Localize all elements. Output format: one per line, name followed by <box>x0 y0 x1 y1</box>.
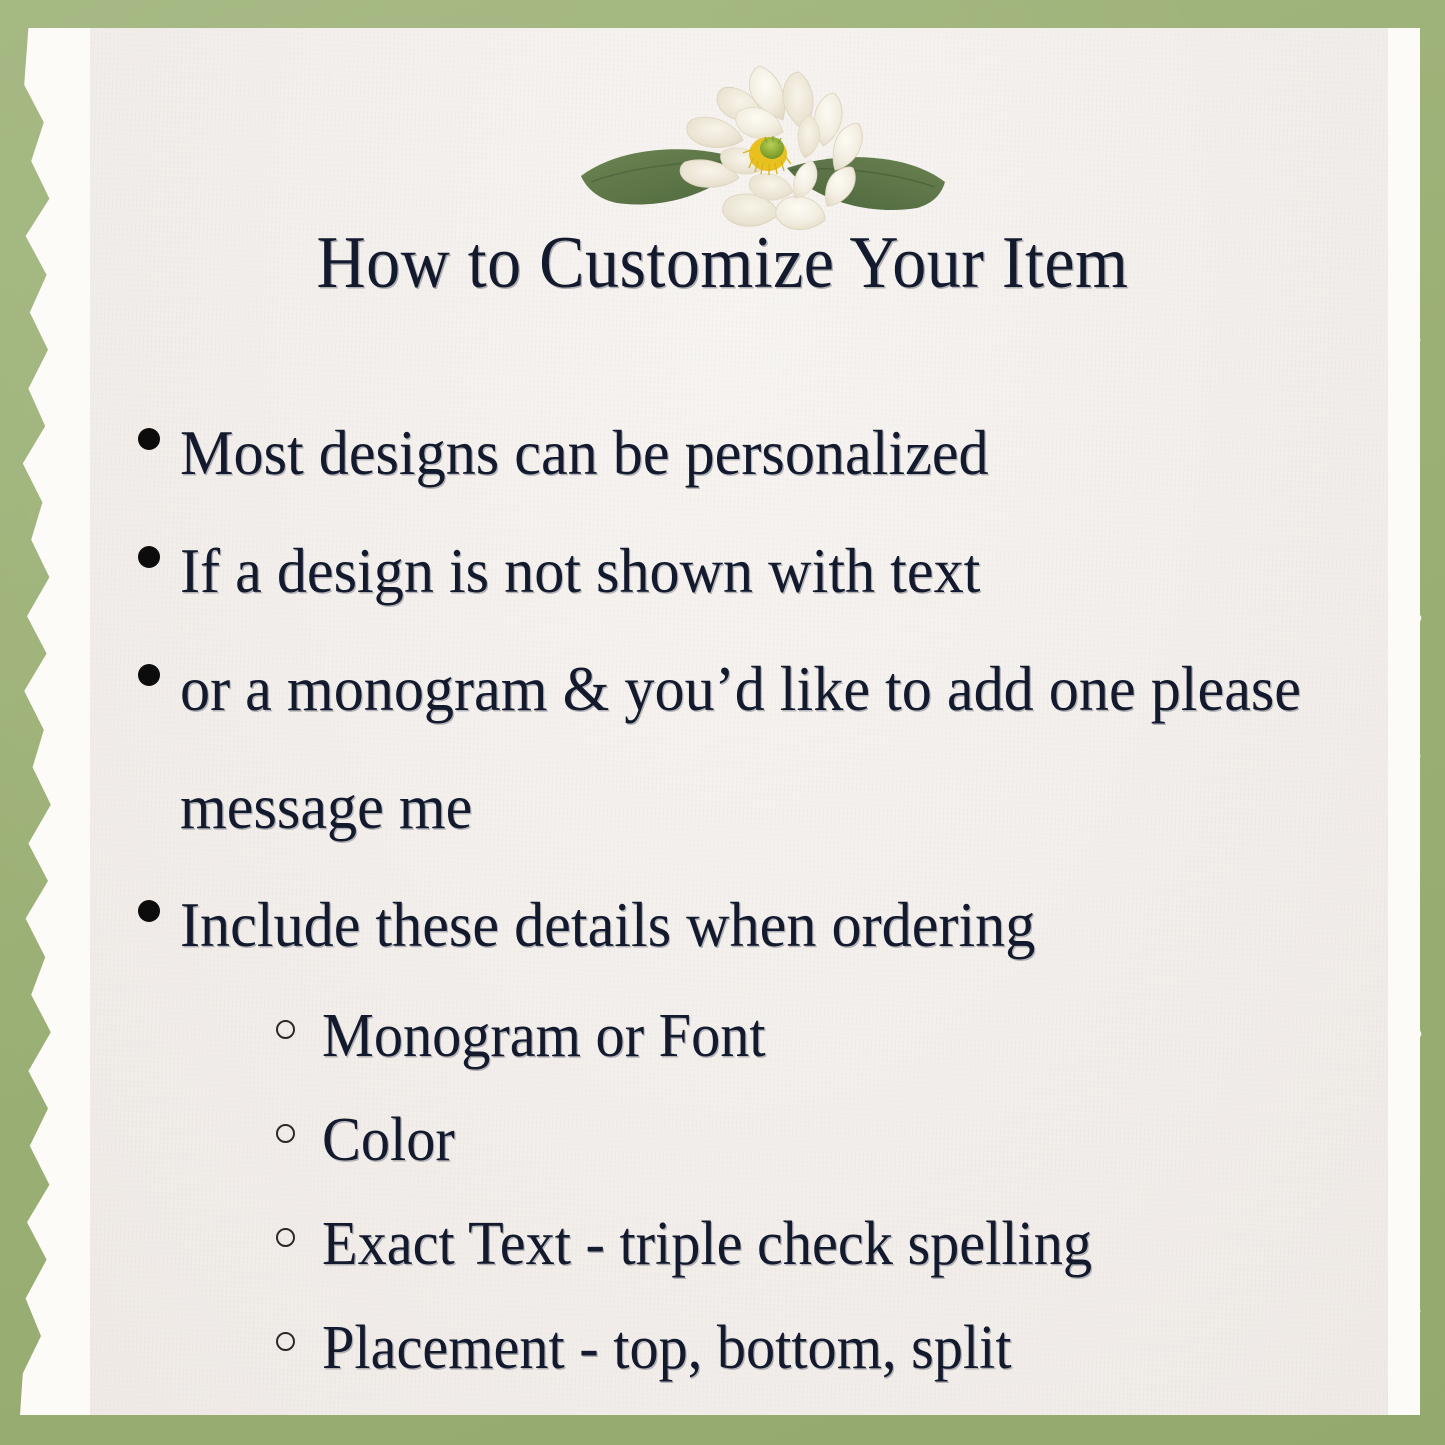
sub-list-item: Exact Text - triple check spelling <box>124 1192 1394 1296</box>
hollow-circle-bullet-icon <box>276 1332 295 1351</box>
filled-disc-bullet-icon <box>138 900 160 922</box>
sub-list-item-label: Placement - top, bottom, split <box>322 1296 1330 1400</box>
list-item: or a monogram & you’d like to add one pl… <box>124 630 1394 866</box>
list-item: Most designs can be personalized <box>124 394 1394 512</box>
hollow-circle-bullet-icon <box>276 1228 295 1247</box>
sub-list-item-label: Color <box>322 1088 1330 1192</box>
filled-disc-bullet-icon <box>138 546 160 568</box>
list-item-label: or a monogram & you’d like to add one pl… <box>180 630 1321 866</box>
sub-list-item: Color <box>124 1088 1394 1192</box>
poster-content: How to Customize Your Item Most designs … <box>28 28 1417 1415</box>
page-title: How to Customize Your Item <box>84 226 1362 300</box>
sub-list-item-label: Exact Text - triple check spelling <box>322 1192 1330 1296</box>
filled-disc-bullet-icon <box>138 428 160 450</box>
list-item-label: If a design is not shown with text <box>180 512 1321 630</box>
list-item-label: Include these details when ordering <box>180 866 1321 984</box>
hollow-circle-bullet-icon <box>276 1124 295 1143</box>
filled-disc-bullet-icon <box>138 664 160 686</box>
sub-list-item: Monogram or Font <box>124 984 1394 1088</box>
list-item: Include these details when ordering <box>124 866 1394 984</box>
sub-list-item-label: Monogram or Font <box>322 984 1330 1088</box>
list-item: If a design is not shown with text <box>124 512 1394 630</box>
sub-list-item: Placement - top, bottom, split <box>124 1296 1394 1400</box>
hollow-circle-bullet-icon <box>276 1020 295 1039</box>
magnolia-flower-icon <box>573 58 953 243</box>
poster-canvas: How to Customize Your Item Most designs … <box>0 0 1445 1445</box>
instructions-list: Most designs can be personalized If a de… <box>124 394 1394 1400</box>
list-item-label: Most designs can be personalized <box>180 394 1321 512</box>
